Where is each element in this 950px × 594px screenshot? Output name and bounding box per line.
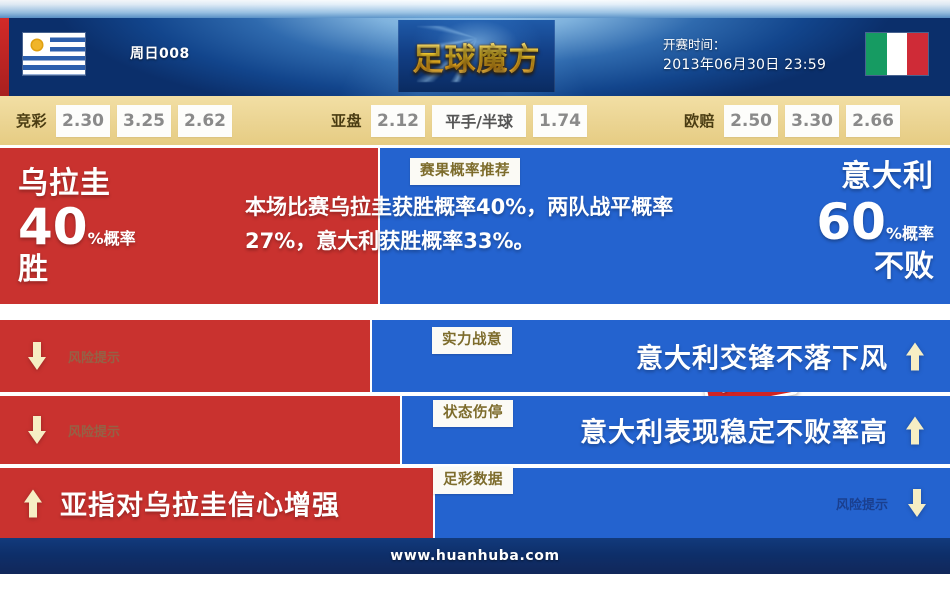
- factor-statement-text: 意大利交锋不落下风: [636, 337, 888, 376]
- home-team-block: 乌拉圭 40%概率 胜: [18, 166, 136, 288]
- factor-row-home-bar: 亚指对乌拉圭信心增强: [0, 468, 433, 538]
- odds-value[interactable]: 2.50: [724, 105, 778, 137]
- section-badge-form-injury: 状态伤停: [433, 400, 513, 427]
- away-team-name: 意大利: [816, 158, 934, 196]
- arrow-down-icon: [26, 415, 48, 445]
- match-id-label: 周日008: [130, 43, 190, 63]
- logo-text: 足球魔方: [413, 34, 541, 79]
- kickoff-info: 开赛时间： 2013年06月30日 23:59: [663, 34, 826, 76]
- odds-group-label: 欧赔: [684, 110, 715, 131]
- odds-group-european: 欧赔 2.50 3.30 2.66: [684, 105, 907, 137]
- factor-statement: 亚指对乌拉圭信心增强: [22, 484, 340, 523]
- handicap-value[interactable]: 平手/半球: [432, 105, 526, 137]
- factor-statement: 意大利表现稳定不败率高: [580, 411, 926, 450]
- away-probability-value: 60: [816, 193, 886, 251]
- odds-value[interactable]: 3.25: [117, 105, 171, 137]
- factor-statement: 意大利交锋不落下风: [636, 337, 926, 376]
- arrow-down-icon: [26, 341, 48, 371]
- factor-row-home-bar: 风险提示: [0, 396, 400, 464]
- italy-white-band: [887, 33, 908, 75]
- home-probability-unit: %概率: [88, 229, 136, 248]
- match-prediction-card: 周日008 足球魔方 开赛时间： 2013年06月30日 23:59 竞彩 2.…: [0, 0, 950, 594]
- home-team-name: 乌拉圭: [18, 166, 136, 202]
- home-risk-note: 风险提示: [26, 341, 120, 371]
- arrow-up-icon: [904, 415, 926, 445]
- italy-green-band: [866, 33, 887, 75]
- home-risk-note: 风险提示: [26, 415, 120, 445]
- sun-of-may-icon: [32, 40, 42, 50]
- odds-value[interactable]: 2.30: [56, 105, 110, 137]
- uruguay-flag: [23, 33, 85, 75]
- away-probability: 60%概率: [816, 196, 934, 248]
- away-team-block: 意大利 60%概率 不败: [816, 158, 934, 286]
- factor-statement-text: 意大利表现稳定不败率高: [580, 411, 888, 450]
- odds-value[interactable]: 1.74: [533, 105, 587, 137]
- probability-summary-text: 本场比赛乌拉圭获胜概率40%，两队战平概率27%，意大利获胜概率33%。: [245, 190, 675, 258]
- section-badge-strength: 实力战意: [432, 327, 512, 354]
- away-probability-unit: %概率: [886, 224, 934, 243]
- arrow-up-icon: [22, 488, 44, 518]
- odds-group-label: 亚盘: [331, 110, 362, 131]
- site-url[interactable]: www.huanhuba.com: [390, 548, 559, 564]
- italy-flag: [866, 33, 928, 75]
- bottom-spacer: [0, 574, 950, 594]
- arrow-up-icon: [904, 341, 926, 371]
- home-outcome-label: 胜: [18, 252, 136, 288]
- arrow-down-icon: [906, 488, 928, 518]
- site-logo[interactable]: 足球魔方: [398, 20, 555, 92]
- odds-value[interactable]: 2.66: [846, 105, 900, 137]
- section-badge-betting-data: 足彩数据: [433, 467, 513, 494]
- header-accent-bar: [0, 18, 9, 96]
- odds-group-jingcai: 竞彩 2.30 3.25 2.62: [16, 105, 239, 137]
- italy-red-band: [907, 33, 928, 75]
- section-badge-probability: 赛果概率推荐: [410, 158, 520, 185]
- home-probability: 40%概率: [18, 202, 136, 252]
- home-risk-label: 风险提示: [68, 347, 120, 366]
- away-risk-note: 风险提示: [836, 488, 928, 518]
- footer-bar: www.huanhuba.com: [0, 538, 950, 574]
- away-risk-label: 风险提示: [836, 494, 888, 513]
- header-bar: 周日008 足球魔方 开赛时间： 2013年06月30日 23:59: [0, 0, 950, 96]
- odds-group-asian-handicap: 亚盘 2.12 平手/半球 1.74: [331, 105, 594, 137]
- away-outcome-label: 不败: [816, 248, 934, 286]
- odds-value[interactable]: 2.12: [371, 105, 425, 137]
- kickoff-time: 2013年06月30日 23:59: [663, 55, 826, 76]
- factor-statement-text: 亚指对乌拉圭信心增强: [60, 484, 340, 523]
- kickoff-label: 开赛时间：: [663, 34, 826, 55]
- factor-row-home-bar: 风险提示: [0, 320, 370, 392]
- odds-value[interactable]: 2.62: [178, 105, 232, 137]
- odds-bar: 竞彩 2.30 3.25 2.62 亚盘 2.12 平手/半球 1.74 欧赔 …: [0, 96, 950, 145]
- odds-value[interactable]: 3.30: [785, 105, 839, 137]
- home-probability-value: 40: [18, 198, 88, 256]
- odds-group-label: 竞彩: [16, 110, 47, 131]
- home-risk-label: 风险提示: [68, 421, 120, 440]
